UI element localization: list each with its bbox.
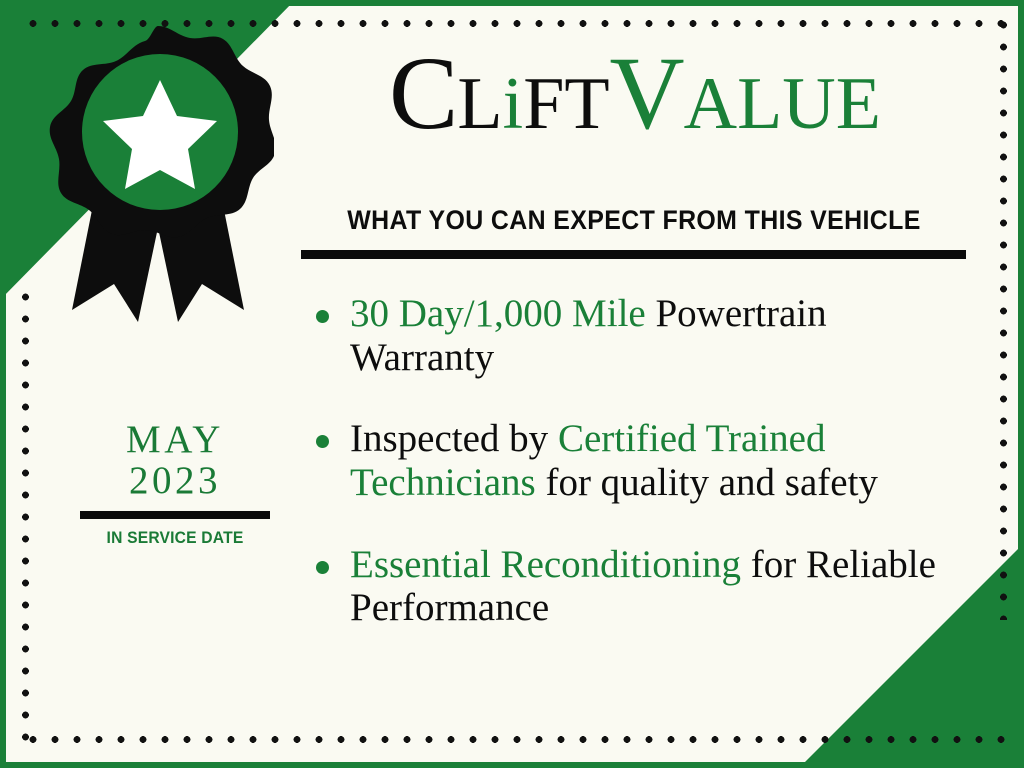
logo-v: V xyxy=(610,36,684,151)
benefit-text-segment: Essential Reconditioning xyxy=(350,543,741,586)
bullet-dot-icon xyxy=(316,435,329,448)
dotted-border-bottom xyxy=(28,736,1006,743)
benefit-text-segment: 30 Day/1,000 Mile xyxy=(350,292,655,335)
bullet-dot-icon xyxy=(316,310,329,323)
subtitle-headline: WHAT YOU CAN EXPECT FROM THIS VEHICLE xyxy=(320,205,948,236)
benefit-text-segment: for quality and safety xyxy=(536,461,878,504)
logo-alue: ALUE xyxy=(684,63,881,145)
benefit-text-segment: Inspected by xyxy=(350,417,558,460)
benefit-item: Essential Reconditioning for Reliable Pe… xyxy=(308,543,973,630)
subtitle-underline-rule xyxy=(301,250,966,259)
dotted-border-right xyxy=(1000,20,1007,620)
benefit-item: 30 Day/1,000 Mile Powertrain Warranty xyxy=(308,292,973,379)
logo-i-green-dot: i xyxy=(503,63,524,145)
benefit-item: Inspected by Certified Trained Technicia… xyxy=(308,417,973,504)
logo-c: C xyxy=(389,36,457,151)
in-service-month: MAY xyxy=(66,420,284,461)
logo-ft: FT xyxy=(523,63,609,145)
logo-l: L xyxy=(457,63,502,145)
in-service-date-block: MAY 2023 IN SERVICE DATE xyxy=(66,420,284,548)
in-service-label: IN SERVICE DATE xyxy=(75,528,276,548)
bullet-dot-icon xyxy=(316,561,329,574)
in-service-rule xyxy=(80,511,270,519)
benefits-list: 30 Day/1,000 Mile Powertrain WarrantyIns… xyxy=(308,292,973,630)
brand-logo: CLiFTVALUE xyxy=(300,42,970,146)
dotted-border-left xyxy=(22,292,29,742)
in-service-year: 2023 xyxy=(66,461,284,502)
award-ribbon-star-icon xyxy=(42,22,274,340)
clift-value-certificate: CLiFTVALUE WHAT YOU CAN EXPECT FROM THIS… xyxy=(0,0,1024,768)
